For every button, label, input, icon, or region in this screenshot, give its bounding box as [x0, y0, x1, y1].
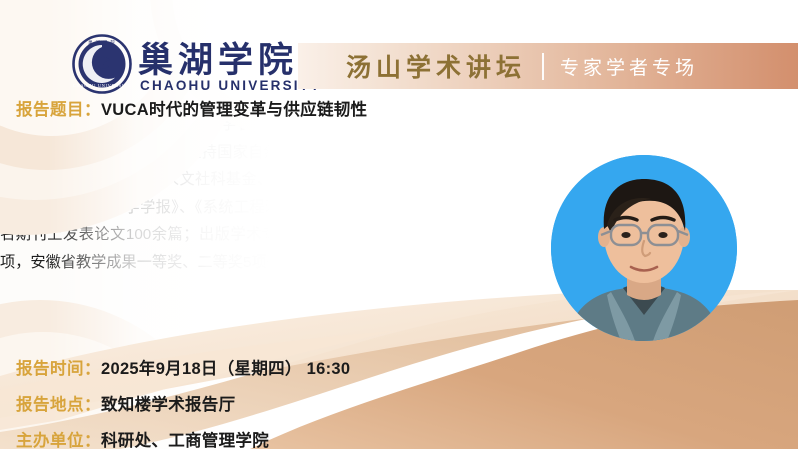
- university-brand: CHAOHU UNIVERSITY 巢 湖 学 院 巢湖学院 CHAOHU UN…: [72, 34, 292, 96]
- university-name-cn: 巢湖学院: [138, 32, 298, 83]
- forum-banner-title: 汤山学术讲坛: [346, 48, 526, 84]
- report-title-row: 报告题目： VUCA时代的管理变革与供应链韧性: [16, 96, 367, 120]
- report-host-value: 科研处、工商管理学院: [101, 427, 269, 449]
- svg-text:巢 湖 学 院: 巢 湖 学 院: [88, 39, 116, 46]
- speaker-name: 龚本刚: [83, 3, 140, 23]
- speaker-portrait: [551, 155, 737, 341]
- speaker-bio-label: 专家简介：: [0, 0, 83, 28]
- report-time-label: 报告时间：: [16, 355, 101, 379]
- report-title-label: 报告题目：: [16, 96, 101, 120]
- forum-banner: 汤山学术讲坛 专家学者专场: [298, 43, 798, 89]
- report-host-label: 主办单位：: [16, 427, 101, 449]
- report-place-value: 致知楼学术报告厅: [101, 391, 235, 415]
- report-place-label: 报告地点：: [16, 391, 101, 415]
- report-time-row: 报告时间： 2025年9月18日（星期四） 16:30: [16, 355, 350, 379]
- forum-banner-subtitle: 专家学者专场: [560, 53, 698, 80]
- report-place-row: 报告地点： 致知楼学术报告厅: [16, 391, 235, 415]
- university-name-en: CHAOHU UNIVERSITY: [140, 78, 321, 93]
- svg-text:CHAOHU UNIVERSITY: CHAOHU UNIVERSITY: [73, 83, 132, 88]
- speaker-portrait-photo-icon: [551, 155, 737, 341]
- report-time-value: 2025年9月18日（星期四） 16:30: [101, 355, 350, 379]
- forum-banner-divider: [542, 53, 544, 80]
- chaohu-university-seal-icon: CHAOHU UNIVERSITY 巢 湖 学 院: [72, 34, 132, 94]
- seminar-poster: CHAOHU UNIVERSITY 巢 湖 学 院 巢湖学院 CHAOHU UN…: [0, 0, 798, 449]
- report-host-row: 主办单位： 科研处、工商管理学院: [16, 427, 269, 449]
- report-title-value: VUCA时代的管理变革与供应链韧性: [101, 96, 367, 120]
